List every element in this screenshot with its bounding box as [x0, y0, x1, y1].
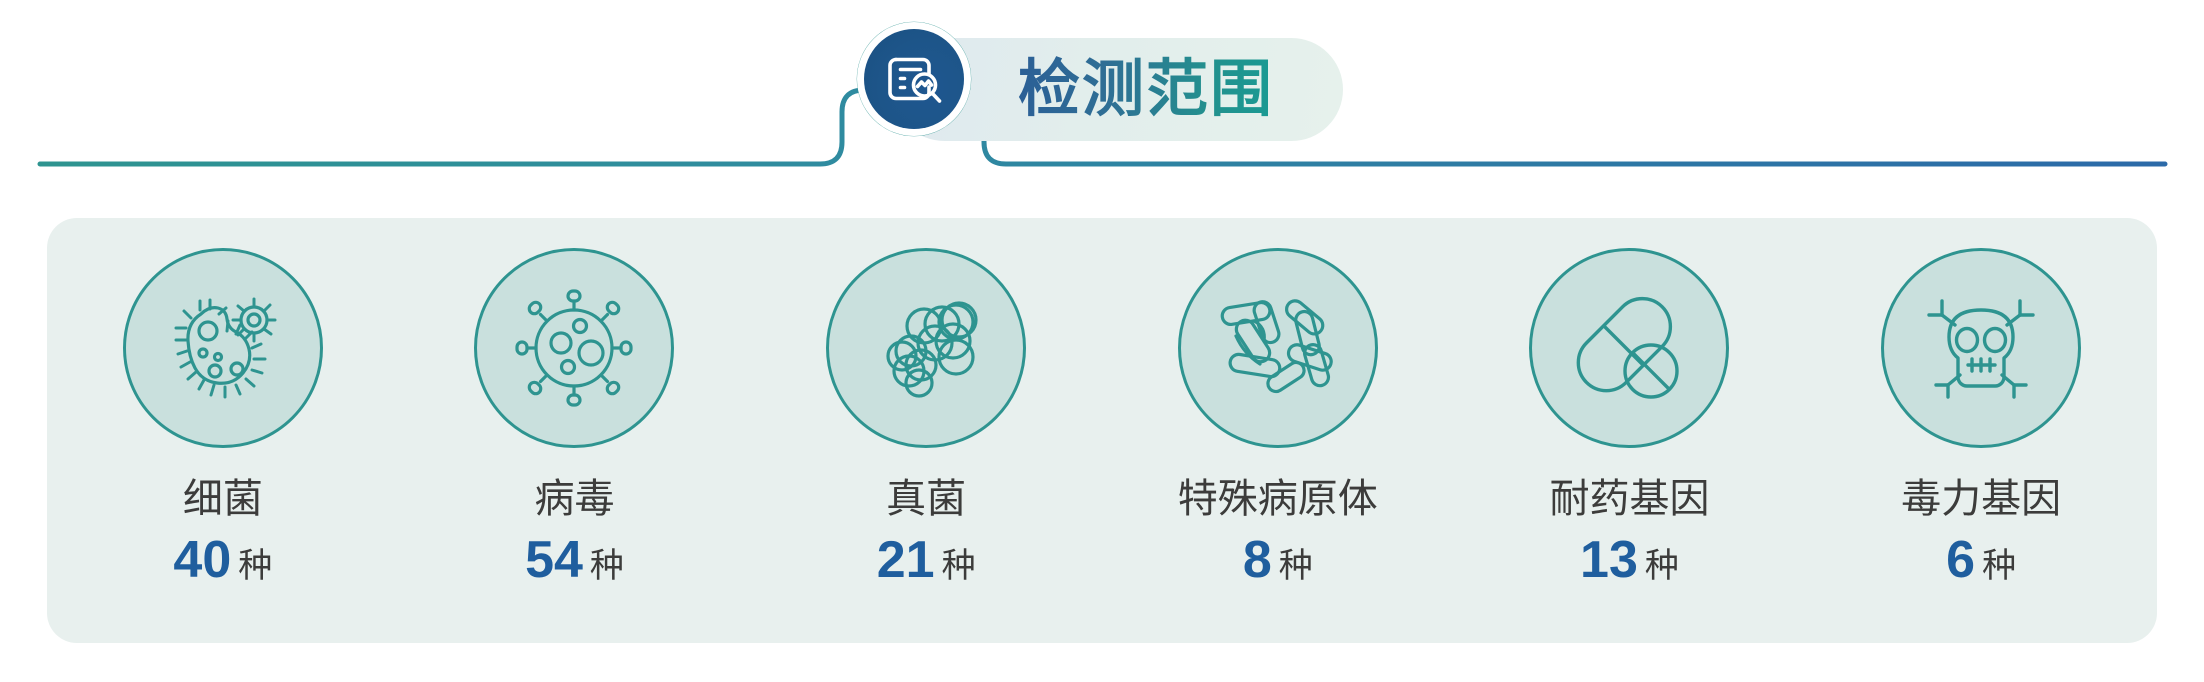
- scope-item-label: 细菌: [183, 474, 263, 524]
- bacilli-icon-circle: [1178, 248, 1378, 448]
- count-unit: 种: [1645, 538, 1679, 594]
- count-number: 21: [877, 532, 935, 588]
- scope-items-row: 细菌 40 种: [47, 218, 2157, 643]
- virus-icon: [509, 283, 639, 413]
- scope-item-count: 21 种: [877, 532, 976, 594]
- fungus-icon: [856, 278, 996, 418]
- scope-item-count: 40 种: [173, 532, 272, 594]
- count-unit: 种: [590, 538, 624, 594]
- pills-icon-circle: [1529, 248, 1729, 448]
- scope-item-label: 耐药基因: [1549, 474, 1709, 524]
- scope-item-count: 8 种: [1243, 532, 1313, 594]
- count-number: 6: [1946, 532, 1975, 588]
- bacteria-icon-circle: [123, 248, 323, 448]
- count-number: 54: [525, 532, 583, 588]
- page-title: 检测范围: [1018, 46, 1274, 134]
- count-number: 8: [1243, 532, 1272, 588]
- fungus-icon-circle: [826, 248, 1026, 448]
- scope-item-virus[interactable]: 病毒 54 种: [409, 248, 739, 594]
- title-badge: [855, 20, 973, 138]
- count-unit: 种: [238, 538, 272, 594]
- skull-crossbones-icon: [1914, 281, 2049, 416]
- count-unit: 种: [1982, 538, 2016, 594]
- scope-item-label: 真菌: [886, 474, 966, 524]
- scope-item-bacteria[interactable]: 细菌 40 种: [58, 248, 388, 594]
- document-search-icon: [882, 47, 946, 111]
- count-unit: 种: [942, 538, 976, 594]
- virus-icon-circle: [474, 248, 674, 448]
- header-band: 检测范围: [0, 0, 2204, 200]
- scope-item-count: 13 种: [1580, 532, 1679, 594]
- scope-item-label: 毒力基因: [1901, 474, 2061, 524]
- bacteria-icon: [153, 278, 293, 418]
- scope-item-count: 54 种: [525, 532, 624, 594]
- scope-item-count: 6 种: [1946, 532, 2016, 594]
- scope-item-fungus[interactable]: 真菌 21 种: [761, 248, 1091, 594]
- pills-icon: [1564, 283, 1694, 413]
- skull-crossbones-icon-circle: [1881, 248, 2081, 448]
- scope-item-label: 病毒: [534, 474, 614, 524]
- bacilli-icon: [1210, 281, 1345, 416]
- count-number: 13: [1580, 532, 1638, 588]
- count-number: 40: [173, 532, 231, 588]
- scope-item-resistance-gene[interactable]: 耐药基因 13 种: [1464, 248, 1794, 594]
- count-unit: 种: [1279, 538, 1313, 594]
- scope-item-special-pathogen[interactable]: 特殊病原体 8 种: [1113, 248, 1443, 594]
- scope-item-virulence-gene[interactable]: 毒力基因 6 种: [1816, 248, 2146, 594]
- scope-item-label: 特殊病原体: [1178, 474, 1378, 524]
- detection-scope-card: 细菌 40 种: [47, 218, 2157, 643]
